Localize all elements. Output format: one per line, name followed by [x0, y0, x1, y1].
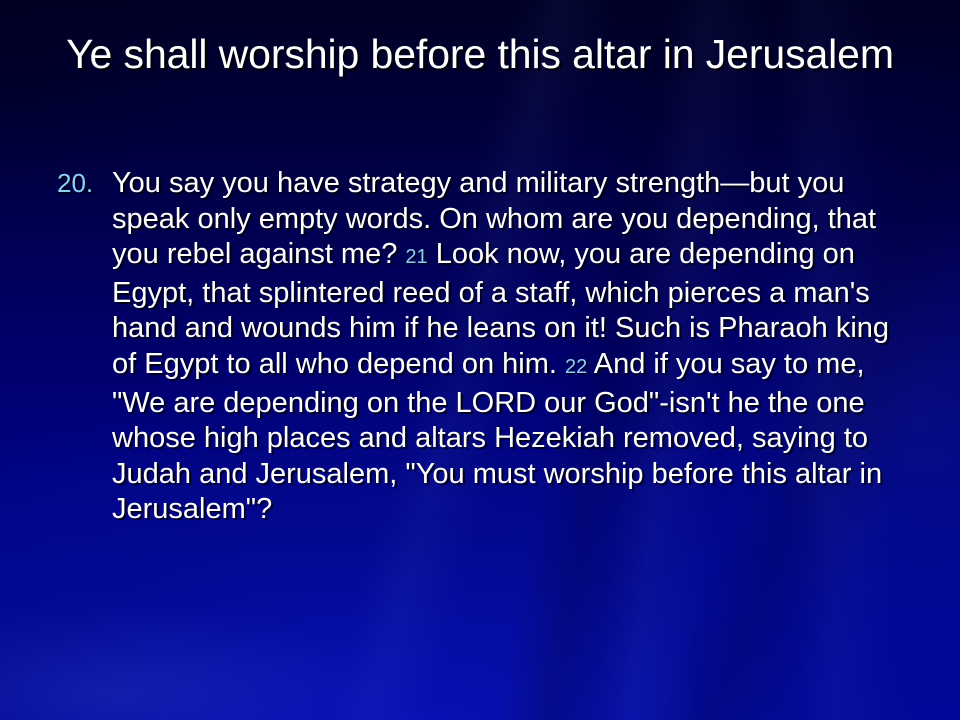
slide-content: Ye shall worship before this altar in Je…	[0, 0, 960, 720]
slide-title: Ye shall worship before this altar in Je…	[40, 26, 920, 83]
presentation-slide: Ye shall worship before this altar in Je…	[0, 0, 960, 720]
list-marker: 20.	[57, 166, 93, 202]
scripture-paragraph: 20. You say you have strategy and milita…	[50, 166, 898, 528]
slide-body: 20. You say you have strategy and milita…	[50, 166, 898, 528]
verse-number-22: 22	[565, 356, 587, 378]
verse-number-21: 21	[405, 246, 427, 268]
